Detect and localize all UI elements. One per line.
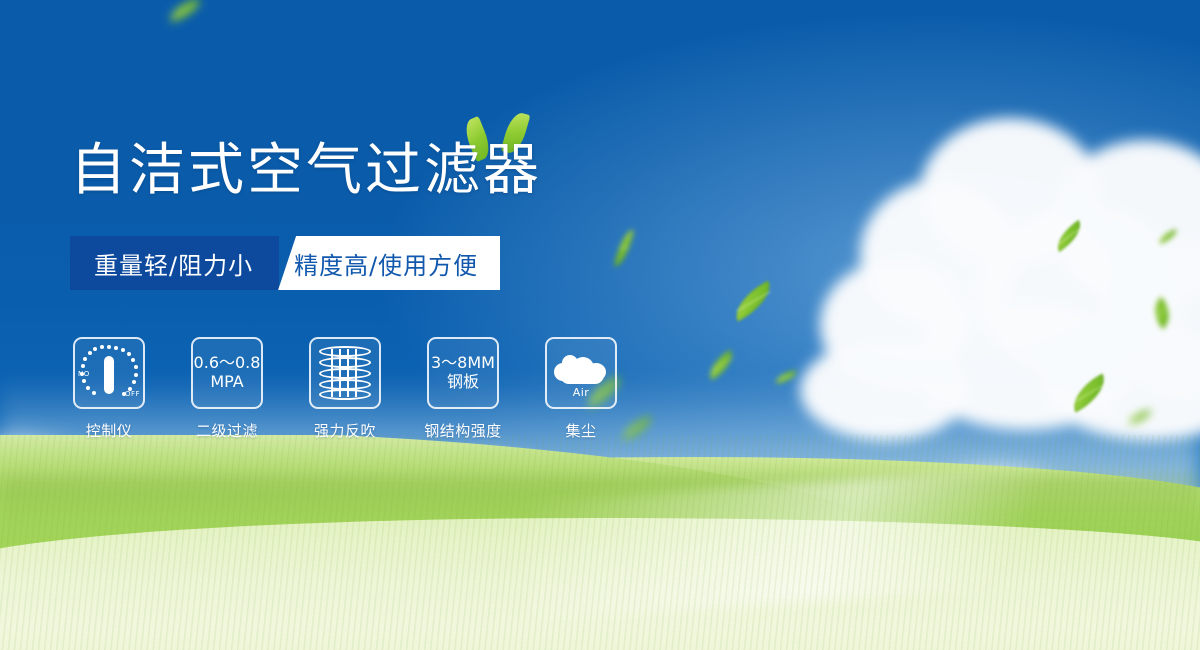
feature-item-blowback[interactable]: 强力反吹: [306, 337, 384, 441]
feature-icon-box: [309, 337, 381, 409]
feature-caption: 控制仪: [86, 420, 133, 441]
pressure-text-icon: 0.6～0.8 MPA: [194, 354, 261, 391]
feature-icon-box: 3～8MM 钢板: [427, 337, 499, 409]
feature-item-dust-collection[interactable]: Air 集尘: [542, 337, 620, 441]
gauge-label-off: OFF: [125, 390, 140, 398]
pressure-value-line: 0.6～0.8: [194, 354, 261, 373]
gauge-label-no: NO: [78, 370, 90, 378]
feature-caption: 集尘: [565, 420, 596, 441]
air-cloud-icon: Air: [552, 349, 610, 397]
subtitle-segment-primary: 重量轻/阻力小: [70, 236, 279, 290]
feature-item-filtration[interactable]: 0.6～0.8 MPA 二级过滤: [188, 337, 266, 441]
steel-material-line: 钢板: [431, 373, 495, 392]
feature-icon-box: 0.6～0.8 MPA: [191, 337, 263, 409]
cloud-right-cumulus: [800, 110, 1200, 440]
feature-list: NO OFF 控制仪 0.6～0.8 MPA 二级过滤: [70, 337, 620, 441]
grass-texture-overlay: [0, 435, 1200, 650]
pressure-unit-line: MPA: [194, 373, 261, 392]
feature-item-steel-strength[interactable]: 3～8MM 钢板 钢结构强度: [424, 337, 502, 441]
steel-plate-text-icon: 3～8MM 钢板: [431, 354, 495, 391]
product-banner: 自洁式空气过滤器 重量轻/阻力小 精度高/使用方便: [0, 0, 1200, 650]
grass-field: [0, 435, 1200, 650]
subtitle-bar: 重量轻/阻力小 精度高/使用方便: [70, 236, 500, 290]
stacked-filter-discs-icon: [319, 346, 371, 400]
feature-icon-box: NO OFF: [73, 337, 145, 409]
air-label: Air: [552, 386, 610, 399]
page-title: 自洁式空气过滤器: [70, 143, 542, 199]
feature-icon-box: Air: [545, 337, 617, 409]
feature-caption: 钢结构强度: [424, 420, 502, 441]
subtitle-segment-secondary: 精度高/使用方便: [278, 236, 500, 290]
steel-thickness-line: 3～8MM: [431, 354, 495, 373]
feature-caption: 强力反吹: [314, 420, 376, 441]
feature-caption: 二级过滤: [196, 420, 258, 441]
gauge-needle: [104, 356, 114, 394]
gauge-dial-icon: NO OFF: [80, 344, 138, 402]
feature-item-controller[interactable]: NO OFF 控制仪: [70, 337, 148, 441]
